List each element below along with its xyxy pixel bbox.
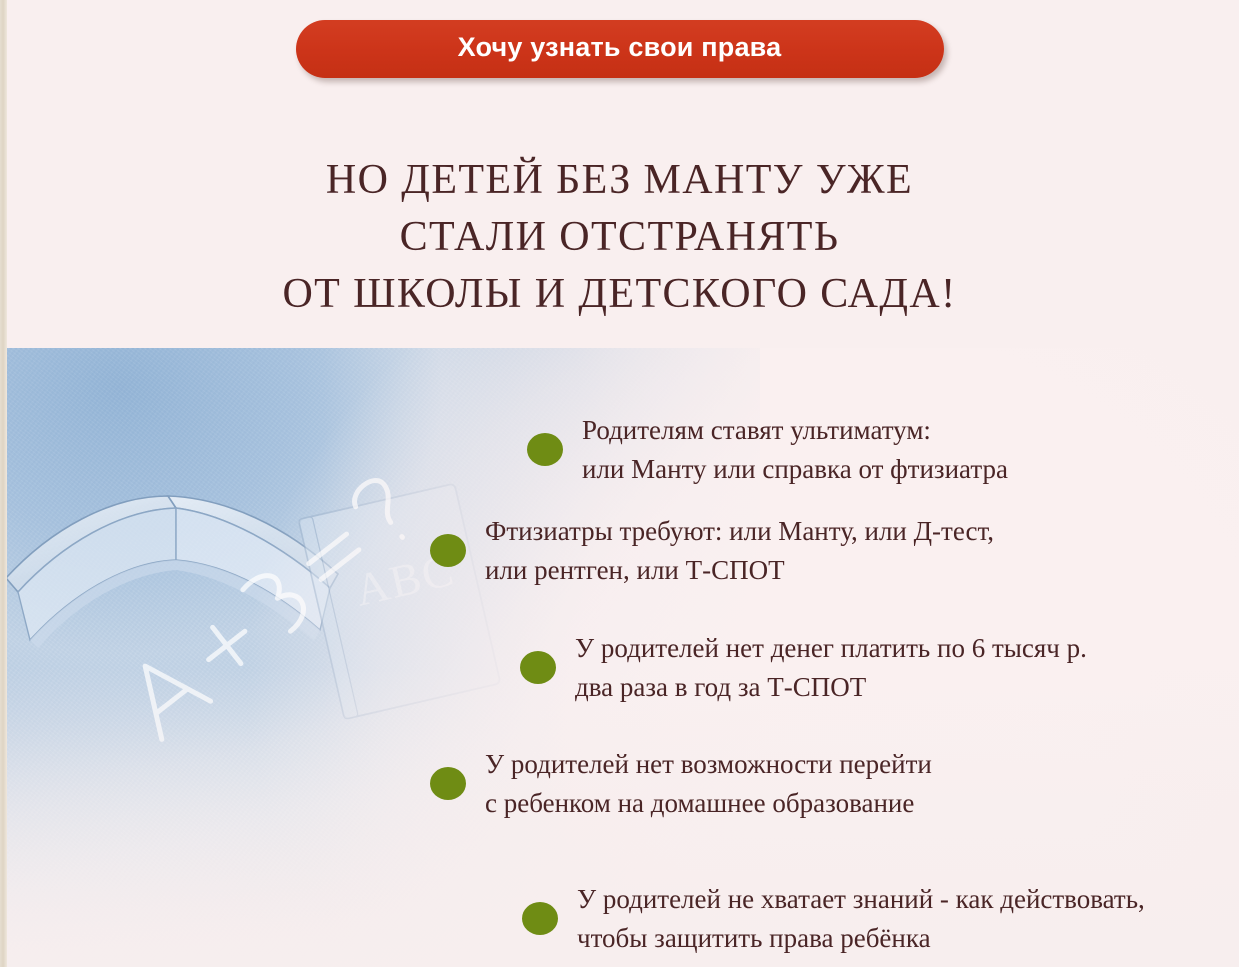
list-item-line: У родителей нет возможности перейти <box>485 745 932 784</box>
list-item: У родителей нет возможности перейти с ре… <box>430 745 932 823</box>
list-item-line: У родителей не хватает знаний - как дейс… <box>577 880 1145 919</box>
list-item-line: У родителей нет денег платить по 6 тысяч… <box>575 629 1087 668</box>
bullet-dot-icon <box>527 433 563 466</box>
list-item-line: или Манту или справка от фтизиатра <box>582 450 1008 489</box>
list-item: У родителей не хватает знаний - как дейс… <box>522 880 1145 958</box>
list-item-line: Родителям ставят ультиматум: <box>582 411 1008 450</box>
list-item-text: Родителям ставят ультиматум: или Манту и… <box>582 411 1008 489</box>
bullet-dot-icon <box>430 534 466 567</box>
bullet-dot-icon <box>522 902 558 935</box>
bullet-dot-icon <box>430 767 466 800</box>
list-item-text: У родителей не хватает знаний - как дейс… <box>577 880 1145 958</box>
list-item-text: У родителей нет возможности перейти с ре… <box>485 745 932 823</box>
bullet-dot-icon <box>520 651 556 684</box>
headline-line-2: СТАЛИ ОТСТРАНЯТЬ <box>0 209 1239 266</box>
landing-page-section: Хочу узнать свои права НО ДЕТЕЙ БЕЗ МАНТ… <box>0 0 1239 967</box>
list-item: У родителей нет денег платить по 6 тысяч… <box>520 629 1087 707</box>
list-item-line: или рентген, или Т-СПОТ <box>485 551 994 590</box>
benefit-list: Родителям ставят ультиматум: или Манту и… <box>0 348 1239 967</box>
page-title: НО ДЕТЕЙ БЕЗ МАНТУ УЖЕ СТАЛИ ОТСТРАНЯТЬ … <box>0 152 1239 323</box>
learn-my-rights-button[interactable]: Хочу узнать свои права <box>296 20 944 78</box>
header-zone: Хочу узнать свои права НО ДЕТЕЙ БЕЗ МАНТ… <box>0 0 1239 348</box>
list-item-line: с ребенком на домашнее образование <box>485 784 932 823</box>
list-item-text: У родителей нет денег платить по 6 тысяч… <box>575 629 1087 707</box>
cta-container: Хочу узнать свои права <box>0 20 1239 78</box>
list-item-text: Фтизиатры требуют: или Манту, или Д-тест… <box>485 512 994 590</box>
list-item-line: Фтизиатры требуют: или Манту, или Д-тест… <box>485 512 994 551</box>
list-item: Родителям ставят ультиматум: или Манту и… <box>527 411 1008 489</box>
list-item-line: чтобы защитить права ребёнка <box>577 919 1145 958</box>
list-item: Фтизиатры требуют: или Манту, или Д-тест… <box>430 512 994 590</box>
left-edge-strip <box>0 0 7 967</box>
headline-line-3: ОТ ШКОЛЫ И ДЕТСКОГО САДА! <box>0 266 1239 323</box>
headline-line-1: НО ДЕТЕЙ БЕЗ МАНТУ УЖЕ <box>0 152 1239 209</box>
list-item-line: два раза в год за Т-СПОТ <box>575 668 1087 707</box>
